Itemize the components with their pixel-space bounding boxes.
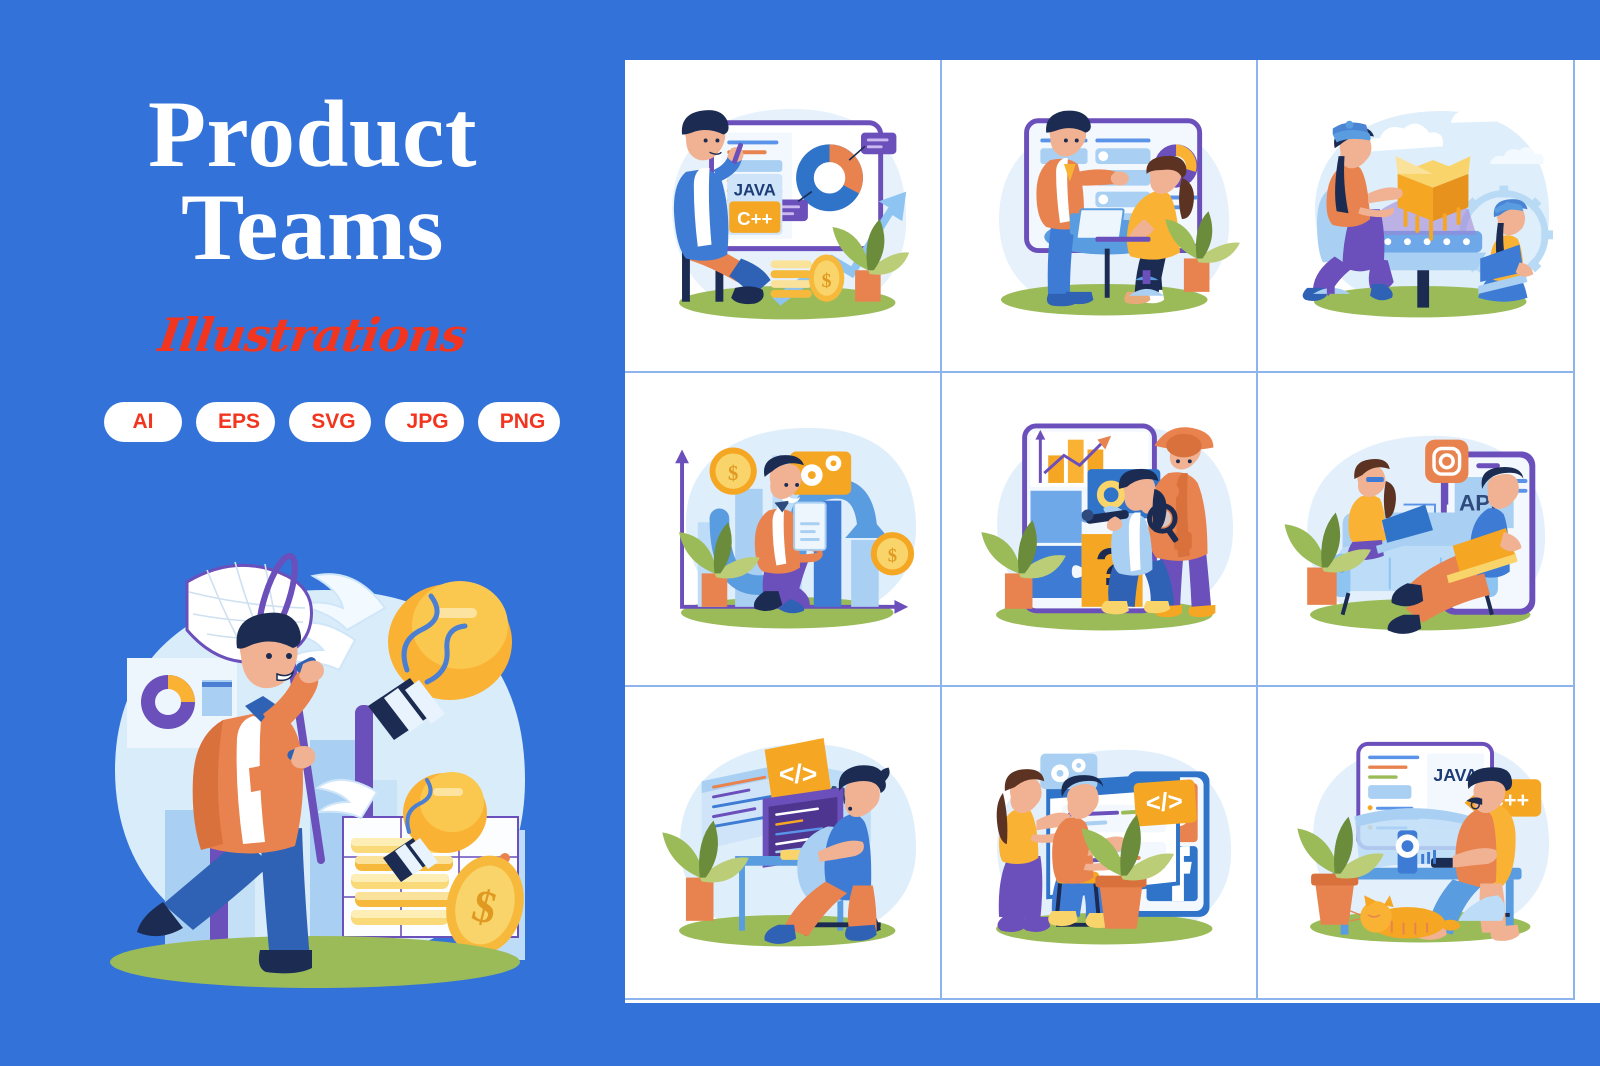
thumbnail-problem-solving-investigation[interactable]: ? ? [942, 373, 1259, 686]
thumbnail-developer-dashboard-analytics[interactable]: JAVA C++ $ [625, 60, 942, 373]
page-title: Product Teams [0, 88, 625, 274]
format-badge-eps[interactable]: EPS [196, 402, 275, 442]
format-badge-list: AI EPS SVG JPG PNG [0, 402, 560, 442]
svg-text:C++: C++ [737, 208, 772, 229]
format-badge-jpg[interactable]: JPG [385, 402, 464, 442]
thumbnail-remote-developer-workspace[interactable]: JAVA C++ [1258, 687, 1575, 1000]
thumbnail-product-launch-box[interactable] [1258, 60, 1575, 373]
thumbnail-business-growth-chart[interactable]: $ $ [625, 373, 942, 686]
svg-text:</>: </> [1144, 787, 1183, 818]
title-block: Product Teams Illustrations [0, 88, 625, 362]
title-line-2: Teams [0, 181, 625, 274]
thumbnail-web-development-team[interactable]: </> [942, 687, 1259, 1000]
format-badge-ai[interactable]: AI [104, 402, 182, 442]
format-badge-svg[interactable]: SVG [289, 402, 370, 442]
thumbnail-grid: JAVA C++ $ [625, 60, 1575, 1000]
svg-text:$: $ [728, 463, 738, 485]
hero-illustration: $ [55, 530, 575, 1020]
thumbnail-app-development-couch[interactable]: APP [1258, 373, 1575, 686]
svg-text:</>: </> [779, 759, 817, 789]
thumbnail-grid-panel: JAVA C++ $ [625, 60, 1600, 1003]
svg-text:$: $ [888, 546, 897, 567]
thumbnail-programmer-coding-desk[interactable]: JAVA </> [625, 687, 942, 1000]
subtitle: Illustrations [0, 308, 629, 362]
thumbnail-team-kanban-meeting[interactable] [942, 60, 1259, 373]
title-line-1: Product [0, 88, 625, 181]
svg-text:$: $ [822, 270, 832, 292]
svg-text:JAVA: JAVA [734, 181, 776, 200]
left-panel: Product Teams Illustrations AI EPS SVG J… [0, 0, 625, 1066]
format-badge-png[interactable]: PNG [478, 402, 560, 442]
